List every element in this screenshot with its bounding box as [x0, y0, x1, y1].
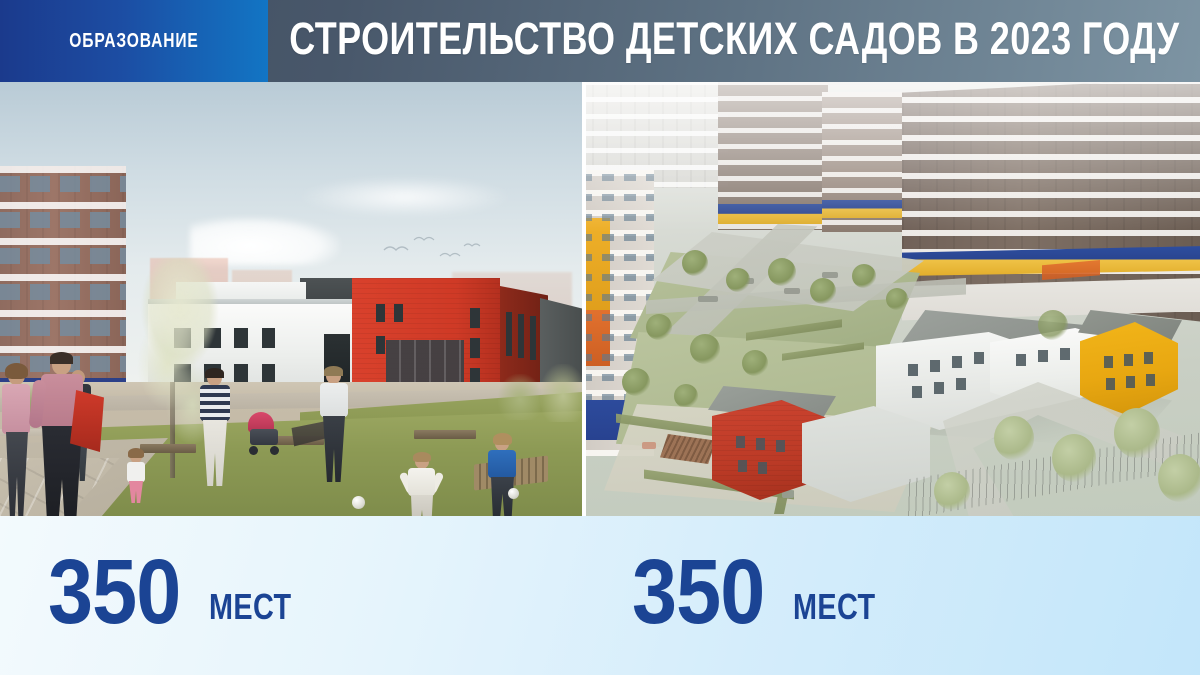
window: [758, 462, 767, 474]
tree: [674, 384, 698, 408]
tree: [934, 472, 970, 510]
window: [912, 386, 922, 398]
birds-icon: [380, 232, 500, 272]
window: [470, 338, 480, 358]
window: [376, 336, 385, 354]
window: [1146, 374, 1155, 386]
window: [930, 360, 940, 372]
window: [234, 328, 248, 348]
window: [376, 304, 385, 322]
project-card-left: Детский сад на 350 мест г. Люберцы, мкр.…: [0, 82, 582, 516]
running-child-figure: [482, 436, 520, 516]
window: [394, 304, 403, 322]
window: [776, 440, 785, 452]
window: [518, 314, 524, 358]
tree: [852, 264, 876, 288]
window: [1104, 356, 1113, 368]
page-title-text: СТРОИТЕЛЬСТВО ДЕТСКИХ САДОВ В 2023 ГОДУ: [289, 13, 1179, 65]
window: [530, 316, 536, 360]
slide-header: ОБРАЗОВАНИЕ СТРОИТЕЛЬСТВО ДЕТСКИХ САДОВ …: [0, 0, 1200, 82]
red-jacket: [70, 390, 104, 452]
tree: [1158, 454, 1200, 502]
adult-figure: [194, 370, 238, 492]
page-title: СТРОИТЕЛЬСТВО ДЕТСКИХ САДОВ В 2023 ГОДУ: [268, 0, 1200, 82]
category-badge-label: ОБРАЗОВАНИЕ: [69, 30, 198, 53]
window: [738, 460, 747, 472]
project-render-right: [586, 82, 1200, 516]
shrub: [498, 374, 542, 420]
stat-unit: МЕСТ: [209, 586, 291, 628]
window: [506, 312, 512, 356]
tree: [1052, 434, 1096, 482]
tree: [682, 250, 708, 276]
window: [470, 308, 480, 328]
car: [698, 296, 718, 302]
stat-number: 350: [48, 550, 180, 635]
stat-block-left: 350 МЕСТ: [48, 550, 312, 635]
tree: [690, 334, 720, 364]
window: [956, 378, 966, 390]
infographic-slide: ОБРАЗОВАНИЕ СТРОИТЕЛЬСТВО ДЕТСКИХ САДОВ …: [0, 0, 1200, 675]
window: [1144, 352, 1153, 364]
running-child-figure: [404, 454, 440, 516]
adult-with-bicycle-figure: [288, 368, 358, 492]
window: [736, 436, 745, 448]
car: [784, 288, 800, 294]
adult-figure-foreground: [22, 354, 108, 516]
tree: [1114, 408, 1160, 458]
bench: [414, 430, 476, 439]
window: [1060, 348, 1070, 360]
category-badge: ОБРАЗОВАНИЕ: [0, 0, 268, 82]
stat-unit: МЕСТ: [793, 586, 875, 628]
tree: [622, 368, 650, 396]
stroller: [246, 412, 286, 460]
shrub: [540, 364, 582, 422]
window: [1124, 354, 1133, 366]
stat-number: 350: [632, 550, 764, 635]
tree: [726, 268, 750, 292]
project-render-left: [0, 82, 582, 516]
ball: [352, 496, 365, 509]
tree: [994, 416, 1034, 460]
tree: [810, 278, 836, 304]
bench: [140, 444, 196, 453]
tree: [1038, 310, 1068, 340]
atmospheric-haze: [586, 82, 1200, 232]
window: [974, 352, 984, 364]
window: [1016, 354, 1026, 366]
window: [262, 328, 275, 348]
window: [1126, 376, 1135, 388]
window: [934, 382, 944, 394]
child-figure: [124, 450, 148, 502]
project-card-right: Детский сад на 350 мест г. Люберцы, 3 По…: [586, 82, 1200, 516]
window: [1038, 350, 1048, 362]
tree: [886, 288, 908, 310]
window: [908, 364, 918, 376]
ball: [508, 488, 519, 499]
window: [756, 438, 765, 450]
tree: [742, 350, 768, 376]
stats-strip: 350 МЕСТ 350 МЕСТ: [0, 516, 1200, 675]
tree: [646, 314, 672, 340]
play-equipment: [642, 442, 656, 449]
cloud-icon: [300, 177, 510, 217]
tree: [768, 258, 796, 286]
stat-block-right: 350 МЕСТ: [632, 550, 896, 635]
window: [1106, 378, 1115, 390]
window: [952, 356, 962, 368]
